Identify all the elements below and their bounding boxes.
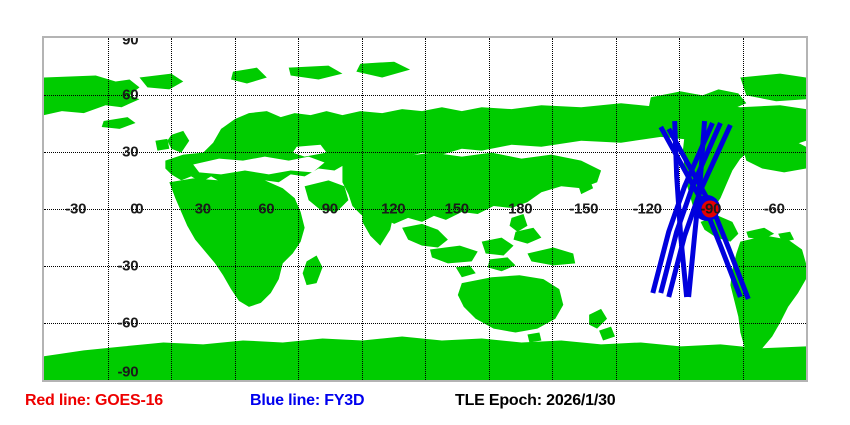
longitude-tick-label: -30 [65,201,86,218]
longitude-tick-label: 150 [445,201,469,218]
latitude-tick-label: 90 [122,38,139,49]
longitude-tick-label: -60 [764,201,785,218]
gridline-parallel [44,323,806,324]
longitude-tick-label: -120 [633,201,662,218]
longitude-tick-label: -150 [569,201,598,218]
map-inner: -300306090120150180-150-120-90-609060300… [44,38,806,380]
legend-blue-line-fy3d: Blue line: FY3D [250,392,364,410]
legend: Red line: GOES-16 Blue line: FY3D TLE Ep… [0,392,850,420]
longitude-tick-label: 60 [258,201,274,218]
latitude-tick-label: 0 [130,201,139,218]
legend-red-line-goes16: Red line: GOES-16 [25,392,163,410]
latitude-tick-label: -90 [117,364,139,381]
gridline-parallel [44,266,806,267]
world-map-panel: -300306090120150180-150-120-90-609060300… [42,36,808,382]
gridline-parallel [44,95,806,96]
latitude-tick-label: 30 [122,144,139,161]
latitude-tick-label: 60 [122,87,139,104]
longitude-tick-label: 90 [322,201,338,218]
longitude-tick-label: 30 [195,201,211,218]
longitude-tick-label: 120 [381,201,405,218]
latitude-tick-label: -30 [117,258,139,275]
gridline-parallel [44,209,806,210]
latitude-tick-label: -60 [117,315,139,332]
gridline-parallel [44,152,806,153]
longitude-tick-label: 180 [508,201,532,218]
longitude-tick-label: -90 [700,201,721,218]
legend-tle-epoch: TLE Epoch: 2026/1/30 [455,392,616,410]
